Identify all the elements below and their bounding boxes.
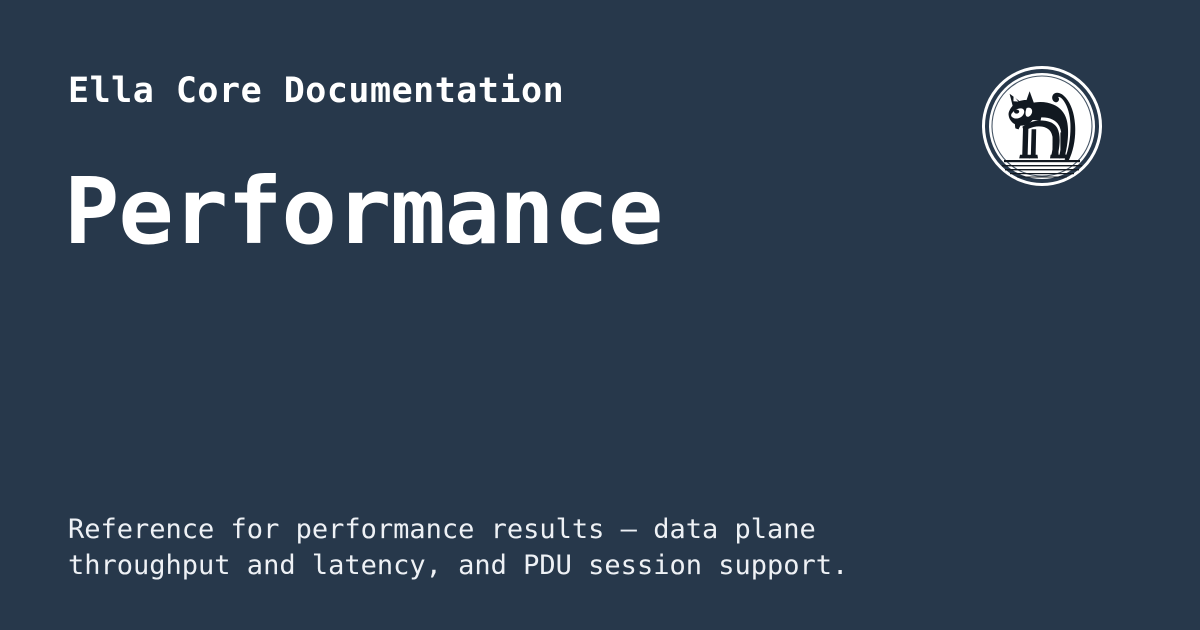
social-card: Ella Core Documentation Performance Refe… bbox=[0, 0, 1200, 630]
logo bbox=[982, 66, 1102, 186]
description-line-2: throughput and latency, and PDU session … bbox=[68, 548, 968, 584]
description-line-1: Reference for performance results – data… bbox=[68, 512, 968, 548]
cat-eye bbox=[1014, 110, 1019, 114]
page-title: Performance bbox=[64, 160, 662, 264]
site-name: Ella Core Documentation bbox=[68, 70, 564, 112]
cat-emblem-icon bbox=[982, 66, 1102, 186]
page-description: Reference for performance results – data… bbox=[68, 512, 968, 584]
